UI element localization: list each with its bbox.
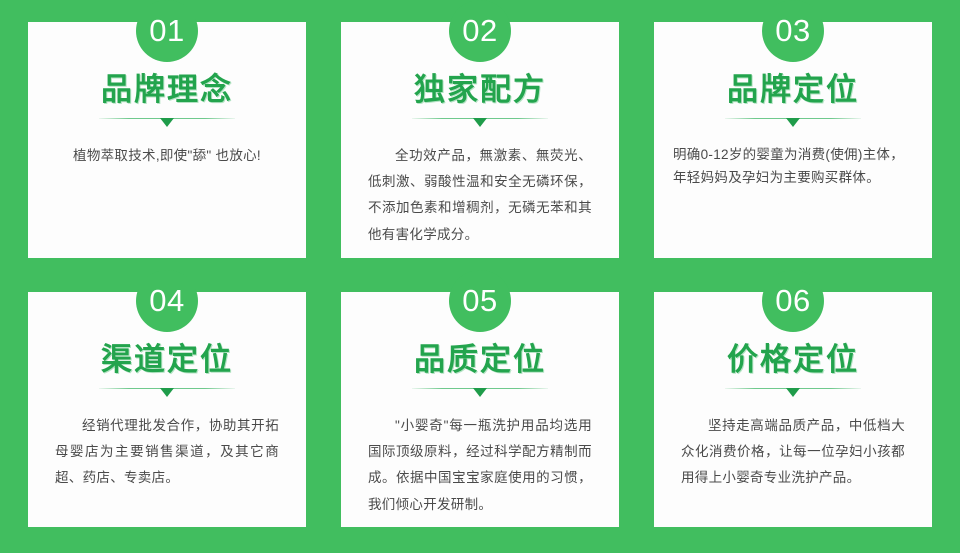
feature-card: 04 渠道定位 经销代理批发合作，协助其开拓母婴店为主要销售渠道，及其它商超、药… <box>28 292 306 527</box>
card-number-badge: 02 <box>449 0 511 62</box>
card-number-badge: 03 <box>762 0 824 62</box>
card-title: 品牌理念 <box>101 72 233 108</box>
card-title: 品质定位 <box>414 342 546 378</box>
triangle-down-icon <box>786 388 800 397</box>
feature-card-grid: 01 品牌理念 植物萃取技术,即使"舔" 也放心! 02 独家配方 全功效产品，… <box>28 22 932 527</box>
triangle-down-icon <box>473 118 487 127</box>
card-title: 品牌定位 <box>727 72 859 108</box>
feature-card: 01 品牌理念 植物萃取技术,即使"舔" 也放心! <box>28 22 306 258</box>
card-body-text: "小婴奇"每一瓶洗护用品均选用国际顶级原料，经过科学配方精制而成。依据中国宝宝家… <box>368 413 592 518</box>
title-divider <box>412 388 548 397</box>
feature-card: 05 品质定位 "小婴奇"每一瓶洗护用品均选用国际顶级原料，经过科学配方精制而成… <box>341 292 619 527</box>
infographic-poster: 01 品牌理念 植物萃取技术,即使"舔" 也放心! 02 独家配方 全功效产品，… <box>0 0 960 553</box>
card-body-text: 经销代理批发合作，协助其开拓母婴店为主要销售渠道，及其它商超、药店、专卖店。 <box>55 413 279 492</box>
title-divider <box>99 118 235 127</box>
card-body-text: 明确0-12岁的婴童为消费(使佣)主体，年轻妈妈及孕妇为主要购买群体。 <box>673 143 913 190</box>
card-number-badge: 01 <box>136 0 198 62</box>
card-number-badge: 04 <box>136 270 198 332</box>
triangle-down-icon <box>786 118 800 127</box>
feature-card: 06 价格定位 坚持走高端品质产品，中低档大众化消费价格，让每一位孕妇小孩都用得… <box>654 292 932 527</box>
title-divider <box>99 388 235 397</box>
card-body-text: 植物萃取技术,即使"舔" 也放心! <box>43 143 291 169</box>
triangle-down-icon <box>160 388 174 397</box>
title-divider <box>412 118 548 127</box>
feature-card: 03 品牌定位 明确0-12岁的婴童为消费(使佣)主体，年轻妈妈及孕妇为主要购买… <box>654 22 932 258</box>
card-title: 独家配方 <box>414 72 546 108</box>
card-body-text: 全功效产品，無激素、無荧光、低刺激、弱酸性温和安全无磷环保，不添加色素和增稠剂，… <box>368 143 592 248</box>
card-title: 价格定位 <box>727 342 859 378</box>
triangle-down-icon <box>473 388 487 397</box>
card-number-badge: 05 <box>449 270 511 332</box>
card-title: 渠道定位 <box>101 342 233 378</box>
title-divider <box>725 388 861 397</box>
triangle-down-icon <box>160 118 174 127</box>
card-body-text: 坚持走高端品质产品，中低档大众化消费价格，让每一位孕妇小孩都用得上小婴奇专业洗护… <box>681 413 905 492</box>
title-divider <box>725 118 861 127</box>
card-number-badge: 06 <box>762 270 824 332</box>
feature-card: 02 独家配方 全功效产品，無激素、無荧光、低刺激、弱酸性温和安全无磷环保，不添… <box>341 22 619 258</box>
